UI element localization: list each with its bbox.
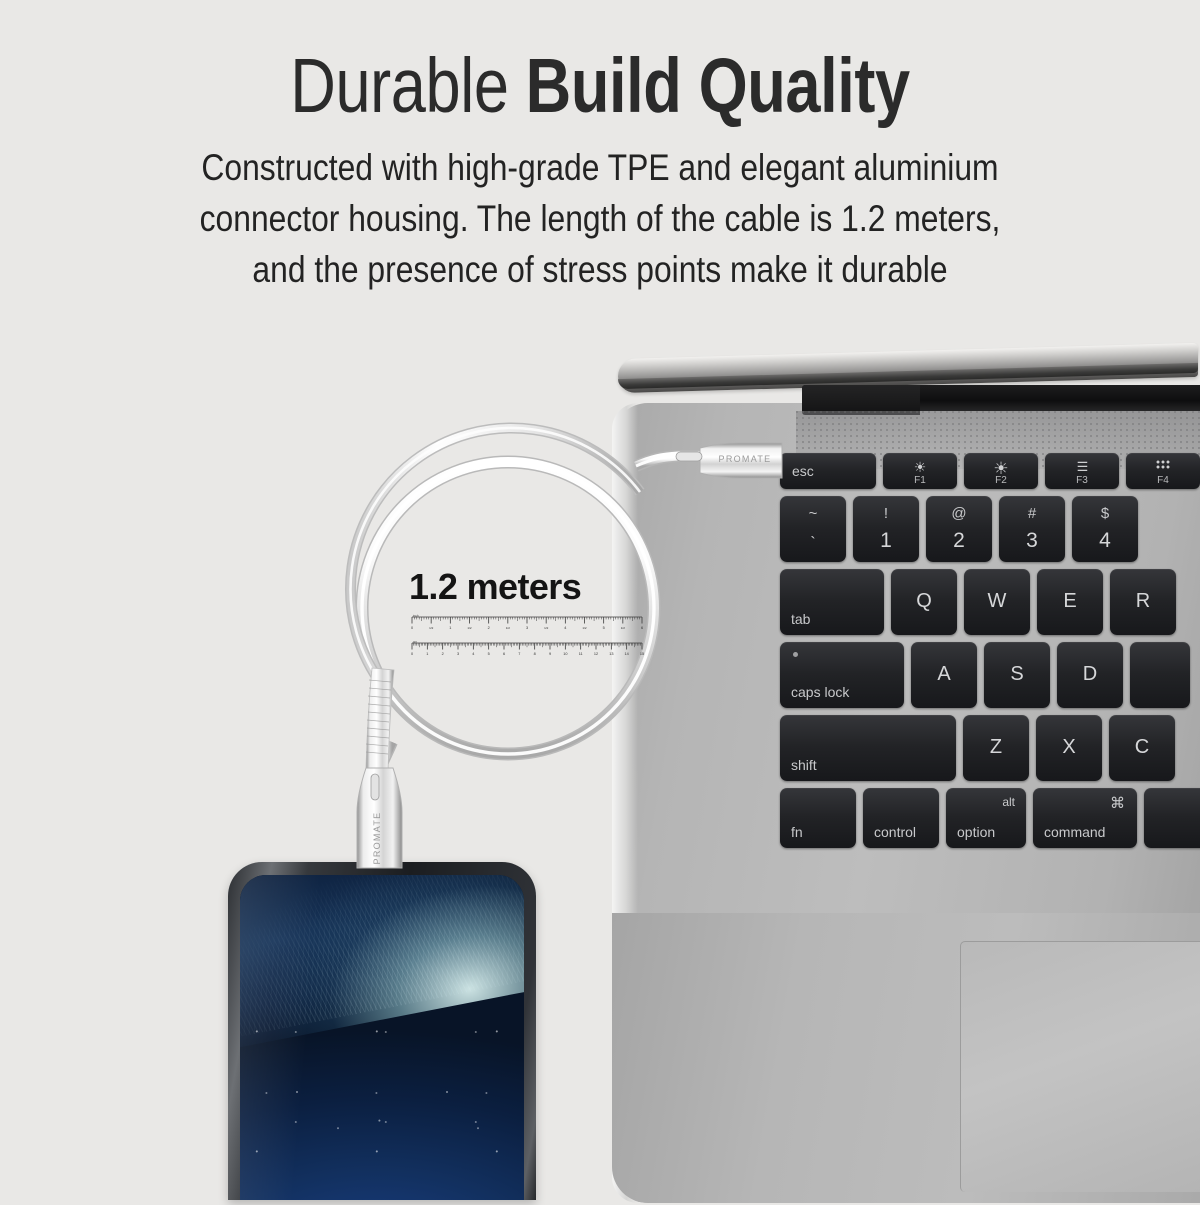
key-s-label: S [984,663,1050,686]
key-fn-label: fn [791,824,803,840]
key-f3[interactable]: ☰ F3 [1045,453,1119,489]
page-title-bold: Build Quality [526,43,910,129]
ruler-cm-tick-label: 13 [609,652,613,656]
key-3-upper: # [999,505,1065,522]
key-f2-label: F2 [964,475,1038,486]
ruler-inch-tick-label: 1/2 [506,626,511,630]
key-x-label: X [1036,736,1102,759]
ruler-inch-numbers: 01/211/221/231/241/251/26 [411,626,643,630]
ruler-cm-scale [412,643,642,650]
keyboard-shift-row: shift Z X C [780,715,1200,781]
caps-lock-indicator-icon [793,652,798,657]
ruler-cm-tick-label: 14 [625,652,629,656]
key-r-label: R [1110,590,1176,613]
key-f4[interactable]: F4 [1126,453,1200,489]
device-connector: PROMATE [357,768,402,868]
key-1-lower: 1 [853,529,919,553]
page-subtitle: Constructed with high-grade TPE and eleg… [0,128,1200,295]
subtitle-line-2: connector housing. The length of the cab… [84,193,1116,244]
key-caps-lock[interactable]: caps lock [780,642,904,708]
measurement-callout: 1.2 meters inch 01/211/221/231/241/251/2… [404,566,652,672]
ruler-inch-tick-label: 5 [603,626,605,630]
ruler-inch-tick-label: 1 [449,626,451,630]
key-w[interactable]: W [964,569,1030,635]
keyboard-number-row: ~ ` ! 1 @ 2 # 3 $ 4 [780,496,1200,562]
ruler-inch-tick-label: 1/2 [544,626,549,630]
key-2-upper: @ [926,505,992,522]
ruler-cm-tick-label: 3 [457,652,459,656]
ruler-inch-tick-label: 1/2 [429,626,434,630]
ruler-graphic: inch 01/211/221/231/241/251/26 cm 012345… [408,613,646,667]
key-e-label: E [1037,590,1103,613]
ruler-cm-tick-label: 2 [442,652,444,656]
key-backtick-upper: ~ [780,505,846,522]
screen-glare [240,875,524,1200]
key-esc-label: esc [792,463,814,479]
ruler-inch-tick-label: 4 [564,626,566,630]
key-q[interactable]: Q [891,569,957,635]
ruler-inch-tick-label: 1/2 [467,626,472,630]
phone-screen[interactable] [240,875,524,1200]
key-r[interactable]: R [1110,569,1176,635]
key-option[interactable]: alt option [946,788,1026,848]
key-x[interactable]: X [1036,715,1102,781]
ruler-cm-tick-label: 7 [518,652,520,656]
ruler-inch-tick-label: 0 [411,626,413,630]
keyboard-tab-row: tab Q W E R [780,569,1200,635]
ruler-cm-numbers: 0123456789101112131415 [411,652,644,656]
key-3-lower: 3 [999,529,1065,553]
key-control-label: control [874,824,916,840]
ruler-cm-tick-label: 8 [534,652,536,656]
key-f1-label: F1 [883,475,957,486]
command-symbol-icon: ⌘ [1110,794,1125,812]
ruler-cm-tick-label: 9 [549,652,551,656]
key-z[interactable]: Z [963,715,1029,781]
ruler-inch-tick-label: 2 [488,626,490,630]
brightness-low-icon: ☀ [883,459,957,476]
key-2-lower: 2 [926,529,992,553]
key-f[interactable] [1130,642,1190,708]
keyboard-function-row: esc ☀ F1 ☀ F2 ☰ F3 F4 [780,453,1200,489]
key-w-label: W [964,590,1030,613]
key-a-label: A [911,663,977,686]
key-3[interactable]: # 3 [999,496,1065,562]
keyboard-home-row: caps lock A S D [780,642,1200,708]
strain-relief-lower [366,668,394,772]
key-f4-label: F4 [1126,475,1200,486]
ruler-cm-tick-label: 12 [594,652,598,656]
key-1-upper: ! [853,505,919,522]
cable-length-label: 1.2 meters [409,566,652,608]
key-caps-lock-label: caps lock [791,684,849,700]
key-4[interactable]: $ 4 [1072,496,1138,562]
page-title-light: Durable [290,43,525,129]
key-esc[interactable]: esc [780,453,876,489]
key-4-lower: 4 [1072,529,1138,553]
ruler-inch-unit-label: inch [413,613,419,617]
key-tab[interactable]: tab [780,569,884,635]
ruler-cm-tick-label: 4 [472,652,474,656]
key-f3-label: F3 [1045,475,1119,486]
key-space[interactable] [1144,788,1200,848]
key-command-label: command [1044,824,1105,840]
key-s[interactable]: S [984,642,1050,708]
launchpad-icon [1126,460,1200,470]
key-2[interactable]: @ 2 [926,496,992,562]
key-command[interactable]: ⌘ command [1033,788,1137,848]
key-c-label: C [1109,736,1175,759]
laptop-illustration: esc ☀ F1 ☀ F2 ☰ F3 F4 ~ ` [612,345,1200,1205]
key-f2[interactable]: ☀ F2 [964,453,1038,489]
keyboard: esc ☀ F1 ☀ F2 ☰ F3 F4 ~ ` [780,453,1200,855]
mission-control-icon: ☰ [1045,459,1119,475]
ruler-inch-tick-label: 3 [526,626,528,630]
key-4-upper: $ [1072,505,1138,522]
device-connector-brand: PROMATE [372,812,382,865]
key-1[interactable]: ! 1 [853,496,919,562]
key-e[interactable]: E [1037,569,1103,635]
key-tab-label: tab [791,611,810,627]
ruler-cm-tick-label: 0 [411,652,413,656]
key-backtick[interactable]: ~ ` [780,496,846,562]
ruler-cm-tick-label: 11 [579,652,583,656]
key-fn[interactable]: fn [780,788,856,848]
smartphone-illustration [228,862,536,1200]
ruler-cm-tick-label: 1 [426,652,428,656]
key-control[interactable]: control [863,788,939,848]
key-option-alt-label: alt [1002,795,1015,809]
key-c[interactable]: C [1109,715,1175,781]
keyboard-bottom-row: fn control alt option ⌘ command [780,788,1200,848]
ruler-inch-tick-label: 1/2 [582,626,587,630]
key-a[interactable]: A [911,642,977,708]
subtitle-line-1: Constructed with high-grade TPE and eleg… [84,142,1116,193]
ruler-cm-tick-label: 10 [563,652,567,656]
trackpad[interactable] [960,941,1200,1192]
ruler-cm-unit-label: cm [413,639,418,643]
ruler-cm-tick-label: 15 [640,652,644,656]
key-q-label: Q [891,590,957,613]
key-backtick-lower: ` [780,535,846,553]
ruler-inch-tick-label: 1/2 [621,626,626,630]
ruler-cm-tick-label: 6 [503,652,505,656]
ruler-inch-scale [412,617,642,624]
page-title: Durable Build Quality [108,0,1092,128]
key-shift-label: shift [791,757,817,773]
key-option-label: option [957,824,995,840]
key-z-label: Z [963,736,1029,759]
key-f1[interactable]: ☀ F1 [883,453,957,489]
ruler-cm-tick-label: 5 [488,652,490,656]
key-d-label: D [1057,663,1123,686]
subtitle-line-3: and the presence of stress points make i… [84,244,1116,295]
ruler-inch-tick-label: 6 [641,626,643,630]
key-shift[interactable]: shift [780,715,956,781]
key-d[interactable]: D [1057,642,1123,708]
cable-lower-lead [378,742,392,776]
header-block: Durable Build Quality Constructed with h… [0,0,1200,295]
